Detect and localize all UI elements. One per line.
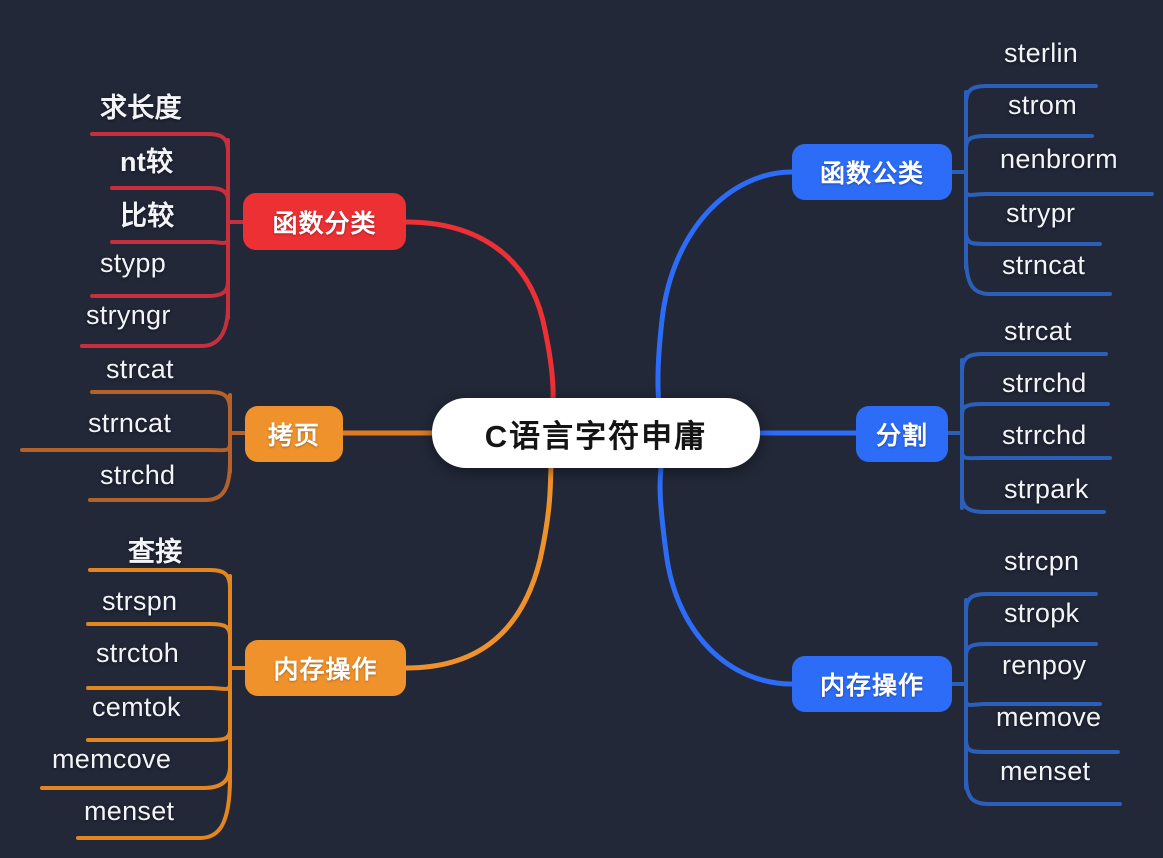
connector-split-spine xyxy=(948,360,962,508)
leaf-copy-1[interactable]: strncat xyxy=(88,408,171,439)
leaf-blue1-0[interactable]: sterlin xyxy=(1004,38,1078,69)
connector-memory-right-item-3 xyxy=(966,740,1118,752)
connector-red-item-3 xyxy=(92,282,228,296)
connector-memory-left-item-1 xyxy=(88,624,230,636)
connector-root-to-function-classification-right xyxy=(658,172,792,426)
leaf-memleft-2[interactable]: strctoh xyxy=(96,638,179,669)
leaf-red-4[interactable]: stryngr xyxy=(86,300,171,331)
leaf-copy-2[interactable]: strchd xyxy=(100,460,175,491)
branch-node-memory-right[interactable]: 内存操作 xyxy=(792,656,952,712)
branch-label: 内存操作 xyxy=(820,666,924,702)
connector-copy-item-1 xyxy=(22,444,230,450)
leaf-memright-2[interactable]: renpoy xyxy=(1002,650,1086,681)
branch-node-copy[interactable]: 拷页 xyxy=(245,406,343,462)
root-node-label: C语言字符申庸 xyxy=(485,411,707,456)
leaf-memleft-0[interactable]: 查接 xyxy=(128,530,183,569)
leaf-memleft-3[interactable]: cemtok xyxy=(92,692,181,723)
leaf-blue1-4[interactable]: strncat xyxy=(1002,250,1085,281)
connector-split-item-1 xyxy=(962,404,1108,414)
leaf-split-0[interactable]: strcat xyxy=(1004,316,1072,347)
leaf-blue1-1[interactable]: strom xyxy=(1008,90,1077,121)
mindmap-canvas: C语言字符申庸 函数分类 求长度 nt较 比较 stypp stryngr 拷页… xyxy=(0,0,1163,858)
leaf-split-1[interactable]: strrchd xyxy=(1002,368,1087,399)
branch-node-split[interactable]: 分割 xyxy=(856,406,948,462)
leaf-blue1-2[interactable]: nenbrorm xyxy=(1000,144,1118,175)
branch-label: 拷页 xyxy=(268,416,320,452)
connector-split-item-2 xyxy=(962,452,1110,458)
connector-root-to-memory-left xyxy=(406,468,551,668)
leaf-red-0[interactable]: 求长度 xyxy=(100,86,182,125)
branch-node-memory-left[interactable]: 内存操作 xyxy=(245,640,406,696)
connector-memory-left-item-2 xyxy=(88,684,230,689)
connector-red-item-2 xyxy=(112,238,228,243)
connector-blue1-item-3 xyxy=(966,232,1100,244)
connector-memory-right-spine xyxy=(952,600,966,788)
connector-red-spine xyxy=(228,140,243,318)
connector-blue1-spine xyxy=(952,92,966,268)
connector-memory-left-item-3 xyxy=(88,730,230,740)
branch-label: 函数公类 xyxy=(820,154,924,190)
root-node[interactable]: C语言字符申庸 xyxy=(432,398,760,468)
leaf-red-2[interactable]: 比较 xyxy=(120,194,175,233)
branch-label: 函数分类 xyxy=(272,204,376,240)
leaf-memleft-1[interactable]: strspn xyxy=(102,586,177,617)
leaf-copy-0[interactable]: strcat xyxy=(106,354,174,385)
leaf-memright-1[interactable]: stropk xyxy=(1004,598,1079,629)
leaf-red-3[interactable]: stypp xyxy=(100,248,166,279)
leaf-memleft-4[interactable]: memcove xyxy=(52,744,171,775)
leaf-memright-4[interactable]: menset xyxy=(1000,756,1090,787)
leaf-memleft-5[interactable]: menset xyxy=(84,796,174,827)
connector-root-to-memory-right xyxy=(660,468,792,684)
branch-node-function-classification-right[interactable]: 函数公类 xyxy=(792,144,952,200)
connector-memory-left-spine xyxy=(230,576,245,782)
leaf-memright-0[interactable]: strcpn xyxy=(1004,546,1079,577)
leaf-blue1-3[interactable]: strypr xyxy=(1006,198,1075,229)
branch-node-function-classification-left[interactable]: 函数分类 xyxy=(243,193,406,250)
connector-copy-spine xyxy=(230,395,245,472)
leaf-split-3[interactable]: strpark xyxy=(1004,474,1089,505)
branch-label: 内存操作 xyxy=(273,650,377,686)
branch-label: 分割 xyxy=(876,416,928,452)
leaf-memright-3[interactable]: memove xyxy=(996,702,1101,733)
connector-blue1-item-2 xyxy=(966,190,1152,195)
leaf-red-1[interactable]: nt较 xyxy=(120,140,173,179)
leaf-split-2[interactable]: strrchd xyxy=(1002,420,1087,451)
connector-root-to-function-classification-left xyxy=(406,222,553,425)
